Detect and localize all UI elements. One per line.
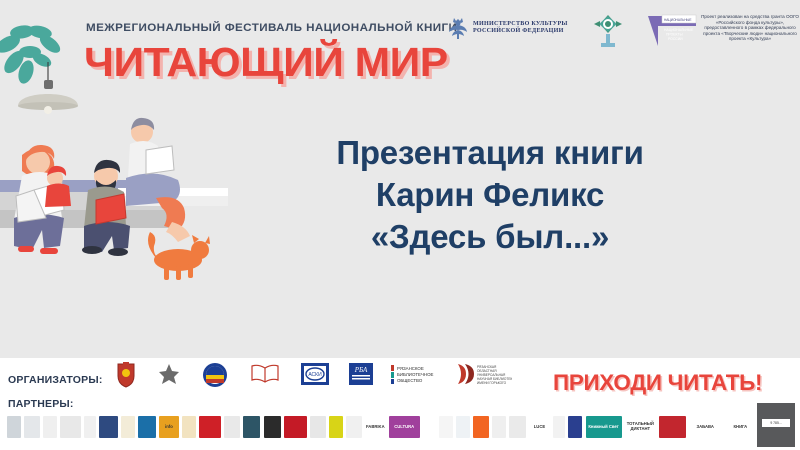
- festival-subtitle: МЕЖРЕГИОНАЛЬНЫЙ ФЕСТИВАЛЬ НАЦИОНАЛЬНОЙ К…: [86, 22, 441, 34]
- partner-logo-28: [568, 416, 582, 438]
- organizer-logo-ryazan-library-society: РЯЗАНСКОЕБИБЛИОТЕЧНОЕОБЩЕСТВО: [390, 362, 442, 388]
- svg-text:БИБЛИОТЕЧНОЕ: БИБЛИОТЕЧНОЕ: [397, 372, 433, 377]
- partner-logo-3: [60, 416, 80, 438]
- svg-text:АСКИ: АСКИ: [308, 372, 322, 378]
- partner-logo-25: [509, 416, 526, 438]
- man-reading-figure: [82, 160, 130, 256]
- partner-logo-27: [553, 416, 566, 438]
- partner-logo-13: [264, 416, 281, 438]
- organizer-logo-blue-circle-emblem: [200, 362, 230, 388]
- festival-title: ЧИТАЮЩИЙ МИР: [84, 42, 448, 83]
- partner-logo-4: [84, 416, 97, 438]
- svg-text:РБА: РБА: [354, 366, 368, 374]
- organizer-logo-open-book-emblem: [250, 362, 280, 388]
- partner-logo-33: КНИГА: [725, 416, 756, 438]
- organizer-logo-ministry-culture-ryazan: [112, 362, 140, 388]
- partner-logo-22: [456, 416, 470, 438]
- partner-logo-10: [199, 416, 221, 438]
- partner-logo-15: [310, 416, 326, 438]
- title-line-2: Карин Феликс: [280, 174, 700, 216]
- svg-text:НАЦИОНАЛЬНЫЕ: НАЦИОНАЛЬНЫЕ: [664, 28, 694, 32]
- ministry-line-2: РОССИЙСКОЙ ФЕДЕРАЦИИ: [473, 28, 568, 35]
- partner-logo-6: [121, 416, 135, 438]
- partner-logo-30: ТОТАЛЬНЫЙ ДИКТАНТ: [625, 416, 656, 438]
- partner-logo-21: [439, 416, 453, 438]
- title-line-1: Презентация книги: [280, 132, 700, 174]
- organizer-logo-rba-logo: РБА: [348, 362, 374, 388]
- event-poster: МЕЖРЕГИОНАЛЬНЫЙ ФЕСТИВАЛЬ НАЦИОНАЛЬНОЙ К…: [0, 0, 800, 450]
- svg-text:ПРОЕКТЫ: ПРОЕКТЫ: [666, 33, 683, 37]
- partner-logo-32: ЗАБАВА: [689, 416, 722, 438]
- partner-logo-26: LUCE: [529, 416, 549, 438]
- ministry-of-culture-logo: МИНИСТЕРСТВО КУЛЬТУРЫ РОССИЙСКОЙ ФЕДЕРАЦ…: [448, 16, 568, 40]
- green-star-emblem-icon: [591, 11, 625, 51]
- partner-logo-0: [7, 416, 21, 438]
- organizers-label: ОРГАНИЗАТОРЫ:: [8, 374, 103, 386]
- partner-logo-2: [43, 416, 57, 438]
- partner-logo-8: info: [159, 416, 179, 438]
- partner-logo-16: [329, 416, 343, 438]
- partner-logo-23: [473, 416, 489, 438]
- partner-logo-12: [243, 416, 260, 438]
- partner-logo-11: [224, 416, 240, 438]
- svg-text:ИМЕНИ ГОРЬКОГО: ИМЕНИ ГОРЬКОГО: [477, 381, 507, 385]
- partner-logo-31: [659, 416, 686, 438]
- barcode-label: 9 785...: [762, 419, 790, 427]
- partner-logo-17: [346, 416, 362, 438]
- partner-logo-9: [182, 416, 196, 438]
- partner-logo-5: [99, 416, 118, 438]
- svg-text:РЯЗАНСКОЕ: РЯЗАНСКОЕ: [397, 366, 424, 371]
- partner-logo-18: FABRIKA: [365, 416, 385, 438]
- organizer-logo-row: АСКИРБАРЯЗАНСКОЕБИБЛИОТЕЧНОЕОБЩЕСТВОРЯЗА…: [112, 362, 532, 404]
- call-to-action-text: ПРИХОДИ ЧИТАТЬ!: [553, 370, 798, 396]
- grant-disclaimer-text: Проект реализован на средства гранта ООГ…: [700, 14, 800, 42]
- header-logo-strip: МИНИСТЕРСТВО КУЛЬТУРЫ РОССИЙСКОЙ ФЕДЕРАЦ…: [448, 6, 798, 54]
- partner-logo-row: infoFABRIKACULTURALUCEКнижный СветТОТАЛЬ…: [4, 412, 756, 446]
- page-title: Презентация книги Карин Феликс «Здесь бы…: [280, 132, 700, 258]
- svg-text:ОБЩЕСТВО: ОБЩЕСТВО: [397, 378, 423, 383]
- partner-logo-20: [423, 416, 436, 438]
- partner-logo-14: [284, 416, 307, 438]
- partner-logo-1: [24, 416, 40, 438]
- organizer-logo-rossotrudnichestvo: [154, 362, 184, 388]
- plant-leaves-icon: [0, 24, 63, 86]
- svg-text:РОССИИ: РОССИИ: [668, 37, 683, 41]
- ministry-line-1: МИНИСТЕРСТВО КУЛЬТУРЫ: [473, 21, 568, 28]
- organizer-logo-aski-logo: АСКИ: [300, 362, 330, 388]
- child-figure: [45, 166, 71, 207]
- partner-logo-19: CULTURA: [389, 416, 420, 438]
- title-line-3: «Здесь был...»: [280, 216, 700, 258]
- svg-text:НАЦИОНАЛЬНЫЕ: НАЦИОНАЛЬНЫЕ: [664, 18, 692, 22]
- partner-logo-24: [492, 416, 506, 438]
- organizer-logo-gorky-library: РЯЗАНСКАЯОБЛАСТНАЯУНИВЕРСАЛЬНАЯНАУЧНАЯ Б…: [456, 362, 512, 388]
- partners-label: ПАРТНЕРЫ:: [8, 398, 74, 410]
- national-projects-banner-logo: НАЦИОНАЛЬНЫЕ НАЦИОНАЛЬНЫЕ ПРОЕКТЫ РОССИИ: [644, 14, 698, 48]
- double-headed-eagle-icon: [448, 16, 468, 40]
- partner-logo-7: [138, 416, 155, 438]
- partner-logo-29: Книжный Свет: [586, 416, 622, 438]
- barcode-box: 9 785...: [757, 403, 795, 447]
